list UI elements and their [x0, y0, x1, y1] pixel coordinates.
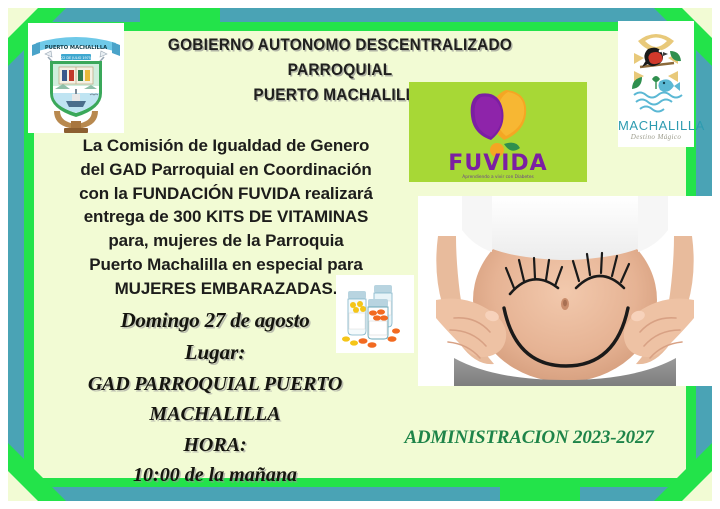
corner-wedge-bottom-right-inner — [682, 471, 712, 501]
machalilla-logo-name: MACHALILLA — [618, 119, 694, 132]
header-line-1: GOBIERNO AUTONOMO DESCENTRALIZADO PARROQ… — [145, 33, 536, 83]
event-time-label: HORA: — [30, 430, 400, 460]
body-line-3: con la FUNDACIÓN FUVIDA realizará — [30, 182, 422, 206]
svg-text:PUERTO MACHALILLA: PUERTO MACHALILLA — [45, 45, 107, 51]
event-date: Domingo 27 de agosto — [30, 305, 400, 337]
machalilla-logo-tagline: Destino Mágico — [618, 133, 694, 141]
fuvida-logo: FUVIDA Aprendiendo a vivir con Diabetes — [409, 82, 587, 182]
event-time-value: 10:00 de la mañana — [30, 460, 400, 490]
administration-label: ADMINISTRACION 2023-2027 — [384, 427, 674, 449]
event-place-line-1: GAD PARROQUIAL PUERTO — [30, 369, 400, 399]
body-line-6: Puerto Machalilla en especial para — [30, 253, 422, 277]
svg-text:Aprendiendo a vivir con Diabet: Aprendiendo a vivir con Diabetes — [462, 174, 534, 180]
svg-text:FUVIDA: FUVIDA — [448, 151, 547, 176]
frame-notch-top — [140, 8, 220, 24]
body-line-5: para, mujeres de la Parroquia — [30, 229, 422, 253]
poster: PUERTO MACHALILLA 22 DE JULIO 1975 — [0, 0, 720, 509]
frame-notch-bottom — [500, 485, 580, 501]
body-line-1: La Comisión de Igualdad de Genero — [30, 134, 422, 158]
pregnant-belly-photo — [418, 196, 712, 386]
event-details: Domingo 27 de agosto Lugar: GAD PARROQUI… — [30, 305, 400, 490]
body-line-2: del GAD Parroquial en Coordinación — [30, 158, 422, 182]
svg-text:22 DE JULIO 1975: 22 DE JULIO 1975 — [61, 56, 91, 60]
poster-content: PUERTO MACHALILLA 22 DE JULIO 1975 — [34, 31, 686, 478]
puerto-machalilla-crest-logo: PUERTO MACHALILLA 22 DE JULIO 1975 — [28, 23, 124, 133]
event-place-line-2: MACHALILLA — [30, 399, 400, 429]
event-place-label: Lugar: — [30, 337, 400, 369]
machalilla-destino-magico-logo: MACHALILLA Destino Mágico — [618, 21, 694, 147]
body-line-4: entrega de 300 KITS DE VITAMINAS — [30, 205, 422, 229]
